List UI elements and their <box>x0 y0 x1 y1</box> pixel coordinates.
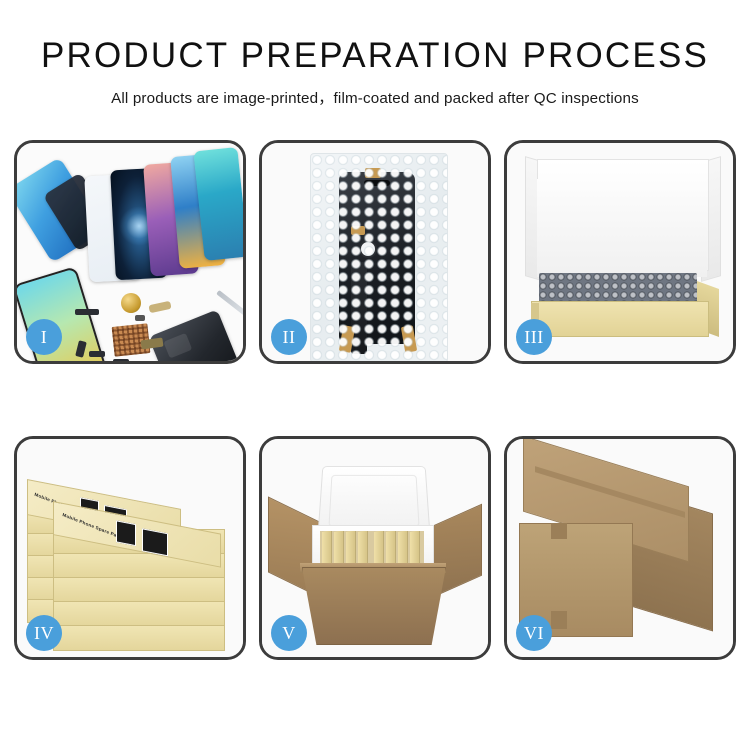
box-front-panel <box>531 301 709 337</box>
step-badge-4: IV <box>26 615 62 651</box>
tape-strip-mid <box>351 226 365 235</box>
bubble-wrap-bag <box>310 153 448 363</box>
step-badge-2: II <box>271 319 307 355</box>
gold-disc-part <box>121 293 141 313</box>
step-badge-1: I <box>26 319 62 355</box>
camera-lens <box>359 240 377 258</box>
page-subtitle: All products are image-printed，film-coat… <box>0 86 750 108</box>
process-step-2: II <box>259 140 491 364</box>
screen-assembly <box>339 172 415 344</box>
part-bracket <box>89 351 105 357</box>
process-step-4: Mobile Phone Spare Parts Mobile Phone Sp… <box>14 436 246 660</box>
carton-tab-upper <box>551 523 567 539</box>
part-shield-plate <box>113 359 129 364</box>
process-step-5: V <box>259 436 491 660</box>
part-screw-small <box>135 315 145 321</box>
foam-sheet <box>537 179 707 277</box>
bubble-wrap-filling <box>539 273 697 303</box>
process-step-3: III <box>504 140 736 364</box>
carton-tab-lower <box>551 611 567 629</box>
process-step-grid: I II <box>14 140 736 660</box>
page-title: PRODUCT PREPARATION PROCESS <box>0 38 750 75</box>
tape-strip-bottom-right <box>401 325 417 353</box>
flex-cable-tail <box>351 262 367 354</box>
step-badge-3: III <box>516 319 552 355</box>
stacked-box-front-3 <box>53 577 225 603</box>
stacked-box-front-4 <box>53 601 225 627</box>
part-connector <box>75 309 99 315</box>
part-antenna-strip <box>148 301 171 313</box>
tape-strip-bottom-left <box>339 325 355 353</box>
box-window-front-1 <box>116 520 136 546</box>
step-badge-5: V <box>271 615 307 651</box>
process-step-1: I <box>14 140 246 364</box>
stacked-box-front-5 <box>53 625 225 651</box>
process-step-6: VI <box>504 436 736 660</box>
tape-strip-top <box>365 168 381 178</box>
phone-back-housing <box>148 309 239 364</box>
box-window-front-2 <box>142 528 168 556</box>
step-badge-6: VI <box>516 615 552 651</box>
tweezers-tool <box>216 290 246 321</box>
header: PRODUCT PREPARATION PROCESS All products… <box>0 0 750 108</box>
carton-body <box>302 567 446 645</box>
housing-cutout <box>163 333 192 359</box>
product-preparation-process-infographic: PRODUCT PREPARATION PROCESS All products… <box>0 0 750 750</box>
box-label-front: Mobile Phone Spare Parts <box>62 512 123 540</box>
